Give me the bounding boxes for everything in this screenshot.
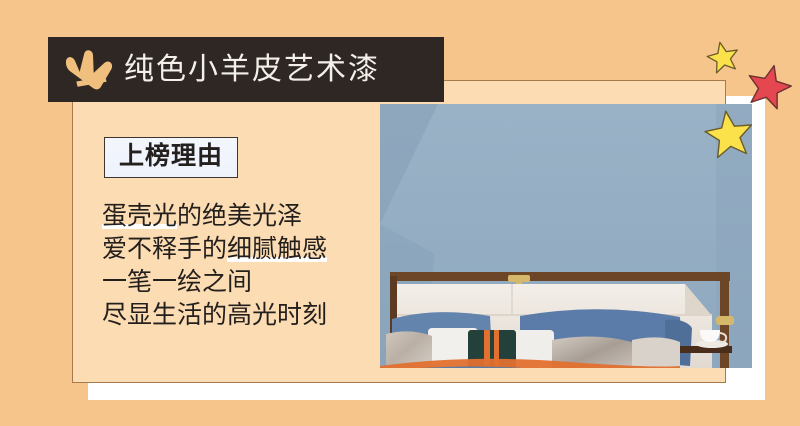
copy-line-2: 爱不释手的细腻触感 [102, 233, 382, 266]
title-banner: 纯色小羊皮艺术漆 [48, 37, 444, 102]
reason-badge: 上榜理由 [104, 137, 238, 178]
copy-line-1-rest: 的绝美光泽 [177, 202, 302, 230]
poster-stage: 纯色小羊皮艺术漆 上榜理由 蛋壳光的绝美光泽 爱不释手的细腻触感 一笔一绘之间 … [0, 0, 800, 426]
bedroom-photo [380, 104, 752, 368]
star-small-yellow-icon [706, 40, 740, 74]
copy-line-3: 一笔一绘之间 [102, 266, 382, 299]
copy-line-2-rest: 爱不释手的 [102, 235, 227, 263]
copy-line-4: 尽显生活的高光时刻 [102, 299, 382, 332]
reason-badge-label: 上榜理由 [119, 142, 223, 170]
copy-line-1: 蛋壳光的绝美光泽 [102, 200, 382, 233]
copy-line-1-highlight: 蛋壳光 [102, 202, 177, 230]
crown-icon [62, 47, 114, 93]
copy-line-2-highlight: 细腻触感 [227, 235, 327, 263]
body-copy: 蛋壳光的绝美光泽 爱不释手的细腻触感 一笔一绘之间 尽显生活的高光时刻 [102, 200, 382, 332]
star-red-icon [745, 62, 793, 110]
star-big-yellow-icon [703, 108, 755, 160]
bedroom-photo-illustration [380, 104, 752, 368]
crown-icon-glyph [62, 47, 114, 93]
banner-title: 纯色小羊皮艺术漆 [124, 55, 380, 85]
